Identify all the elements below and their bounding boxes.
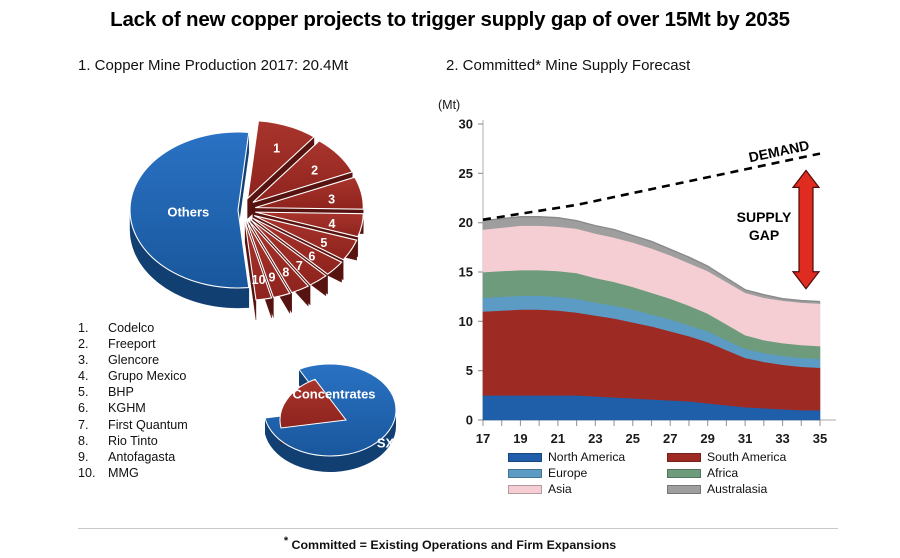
legend-swatch [667, 469, 701, 478]
legend-item-asia[interactable]: Asia [508, 482, 649, 496]
pie1-slice-number-2: 2 [311, 163, 318, 177]
legend-item-south-america[interactable]: South America [667, 450, 808, 464]
x-axis-tick-label: 33 [775, 431, 789, 446]
x-axis-tick-label: 21 [551, 431, 565, 446]
legend-item-europe[interactable]: Europe [508, 466, 649, 480]
x-axis-tick-label: 27 [663, 431, 677, 446]
company-list-item: 9.Antofagasta [78, 449, 188, 465]
legend-swatch [667, 485, 701, 494]
y-axis-tick-label: 30 [459, 117, 473, 132]
area-chart-legend: North AmericaSouth AmericaEuropeAfricaAs… [508, 450, 808, 496]
company-list-item: 6.KGHM [78, 400, 188, 416]
company-list-name: BHP [108, 384, 134, 400]
x-axis-tick-label: 25 [626, 431, 640, 446]
company-list-index: 8. [78, 433, 108, 449]
slide-canvas: Lack of new copper projects to trigger s… [0, 0, 900, 558]
y-axis: 051015202530 [459, 117, 483, 428]
company-list-index: 7. [78, 417, 108, 433]
pie1-slice-number-1: 1 [273, 142, 280, 156]
company-list-item: 5.BHP [78, 384, 188, 400]
legend-label: Africa [707, 466, 738, 480]
company-list-name: MMG [108, 465, 139, 481]
pie1-slice-number-10: 10 [252, 273, 266, 287]
y-axis-unit-label: (Mt) [438, 98, 460, 112]
supply-gap-label-line2: GAP [749, 227, 779, 243]
copper-production-pie-chart: Others12345678910 [85, 105, 425, 340]
concentrates-sxew-pie-chart: ConcentratesSXEW [252, 352, 432, 482]
x-axis-tick-label: 23 [588, 431, 602, 446]
company-list-name: Codelco [108, 320, 154, 336]
x-axis-tick-label: 29 [700, 431, 714, 446]
y-axis-tick-label: 15 [459, 265, 473, 280]
company-list-name: Freeport [108, 336, 156, 352]
y-axis-tick-label: 20 [459, 215, 473, 230]
x-axis: 17192123252729313335 [476, 420, 836, 446]
y-axis-tick-label: 5 [466, 363, 473, 378]
supply-gap-double-arrow [793, 170, 819, 288]
legend-label: North America [548, 450, 625, 464]
legend-swatch [667, 453, 701, 462]
legend-item-north-america[interactable]: North America [508, 450, 649, 464]
legend-label: Europe [548, 466, 587, 480]
legend-swatch [508, 469, 542, 478]
pie1-slice-number-5: 5 [320, 236, 327, 250]
pie1-slice-number-7: 7 [296, 259, 303, 273]
company-list-name: Antofagasta [108, 449, 175, 465]
pie2-label-sxew: SXEW [377, 435, 416, 450]
stacked-area-bands [483, 217, 820, 420]
pie1-slice-number-3: 3 [328, 192, 335, 206]
pie2-label-concentrates: Concentrates [292, 386, 375, 401]
pie1-svg: Others12345678910 [85, 105, 425, 340]
pie2-slice-group [265, 364, 396, 472]
x-axis-tick-label: 35 [813, 431, 827, 446]
company-list-index: 4. [78, 368, 108, 384]
company-list-item: 3.Glencore [78, 352, 188, 368]
company-list-index: 6. [78, 400, 108, 416]
company-list-index: 10. [78, 465, 108, 481]
y-axis-tick-label: 10 [459, 314, 473, 329]
y-axis-tick-label: 25 [459, 166, 473, 181]
legend-item-australasia[interactable]: Australasia [667, 482, 808, 496]
y-axis-tick-label: 0 [466, 413, 473, 428]
company-list-index: 9. [78, 449, 108, 465]
legend-label: Australasia [707, 482, 767, 496]
pie1-slice-number-9: 9 [269, 270, 276, 284]
company-list-name: KGHM [108, 400, 146, 416]
subtitle-left: 1. Copper Mine Production 2017: 20.4Mt [78, 57, 348, 74]
company-list-item: 10.MMG [78, 465, 188, 481]
footnote-text: Committed = Existing Operations and Firm… [288, 538, 616, 552]
subtitle-right: 2. Committed* Mine Supply Forecast [446, 57, 690, 74]
company-list-name: Glencore [108, 352, 159, 368]
committed-mine-supply-area-chart: (Mt) 051015202530 17192123252729313335 D… [424, 92, 876, 437]
x-axis-tick-label: 31 [738, 431, 752, 446]
pie1-slice-number-8: 8 [282, 266, 289, 280]
footnote: * Committed = Existing Operations and Fi… [0, 535, 900, 552]
company-list-item: 7.First Quantum [78, 417, 188, 433]
company-list-item: 1.Codelco [78, 320, 188, 336]
pie1-slice-number-4: 4 [329, 217, 336, 231]
legend-swatch [508, 453, 542, 462]
area-chart-svg: (Mt) 051015202530 17192123252729313335 D… [424, 92, 876, 437]
x-axis-tick-label: 17 [476, 431, 490, 446]
pie2-svg: ConcentratesSXEW [252, 352, 432, 482]
company-list-index: 5. [78, 384, 108, 400]
page-title: Lack of new copper projects to trigger s… [0, 8, 900, 32]
legend-label: Asia [548, 482, 572, 496]
legend-item-africa[interactable]: Africa [667, 466, 808, 480]
supply-gap-label-line1: SUPPLY [737, 209, 792, 225]
company-list-item: 8.Rio Tinto [78, 433, 188, 449]
company-list-index: 2. [78, 336, 108, 352]
company-list-name: Rio Tinto [108, 433, 158, 449]
company-list-index: 1. [78, 320, 108, 336]
pie1-slice-number-6: 6 [308, 250, 315, 264]
footer-divider [78, 528, 838, 529]
legend-label: South America [707, 450, 786, 464]
supply-gap-arrow-icon [793, 170, 819, 288]
company-list-item: 2.Freeport [78, 336, 188, 352]
x-axis-tick-label: 19 [513, 431, 527, 446]
pie1-label-others: Others [167, 204, 209, 219]
company-list-item: 4.Grupo Mexico [78, 368, 188, 384]
company-ranking-list: 1.Codelco2.Freeport3.Glencore4.Grupo Mex… [78, 320, 188, 481]
company-list-name: Grupo Mexico [108, 368, 186, 384]
company-list-name: First Quantum [108, 417, 188, 433]
company-list-index: 3. [78, 352, 108, 368]
legend-swatch [508, 485, 542, 494]
